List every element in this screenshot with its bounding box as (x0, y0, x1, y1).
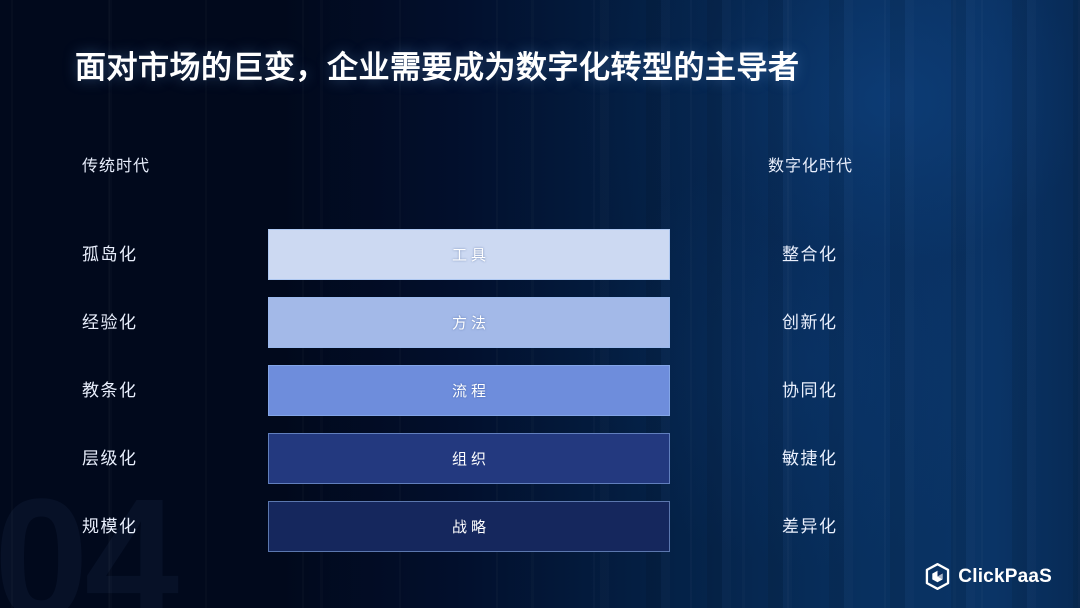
slide-canvas: 04 面对市场的巨变，企业需要成为数字化转型的主导者 传统时代 数字化时代 孤岛… (0, 0, 1080, 608)
brand-name: ClickPaaS (958, 566, 1052, 588)
matrix-row: 规模化 战略 差异化 (0, 501, 1080, 552)
row-left-label: 孤岛化 (82, 229, 138, 280)
matrix-row: 教条化 流程 协同化 (0, 365, 1080, 416)
row-right-label: 整合化 (782, 229, 838, 280)
page-title: 面对市场的巨变，企业需要成为数字化转型的主导者 (75, 42, 800, 87)
row-left-label: 规模化 (82, 501, 138, 552)
row-left-label: 层级化 (82, 433, 138, 484)
brand-logo: ClickPaaS (925, 563, 1052, 590)
center-bar-label: 战略 (448, 516, 490, 537)
center-bar-process[interactable]: 流程 (268, 365, 670, 416)
row-right-label: 创新化 (782, 297, 838, 348)
center-bar-method[interactable]: 方法 (268, 297, 670, 348)
matrix-row: 经验化 方法 创新化 (0, 297, 1080, 348)
center-bar-strategy[interactable]: 战略 (268, 501, 670, 552)
row-left-label: 经验化 (82, 297, 138, 348)
center-bar-label: 方法 (448, 312, 490, 333)
center-bar-label: 工具 (448, 244, 490, 265)
center-bar-label: 组织 (448, 448, 490, 469)
matrix-row: 层级化 组织 敏捷化 (0, 433, 1080, 484)
column-header-digital: 数字化时代 (768, 152, 853, 176)
matrix-row: 孤岛化 工具 整合化 (0, 229, 1080, 280)
hexagon-cube-icon (925, 563, 950, 590)
row-left-label: 教条化 (82, 365, 138, 416)
row-right-label: 敏捷化 (782, 433, 838, 484)
row-right-label: 差异化 (782, 501, 838, 552)
column-header-traditional: 传统时代 (82, 152, 150, 176)
center-bar-tool[interactable]: 工具 (268, 229, 670, 280)
center-bar-label: 流程 (448, 380, 490, 401)
comparison-matrix: 孤岛化 工具 整合化 经验化 方法 创新化 教条化 流程 协同化 层级化 组织 (0, 229, 1080, 552)
row-right-label: 协同化 (782, 365, 838, 416)
center-bar-organization[interactable]: 组织 (268, 433, 670, 484)
